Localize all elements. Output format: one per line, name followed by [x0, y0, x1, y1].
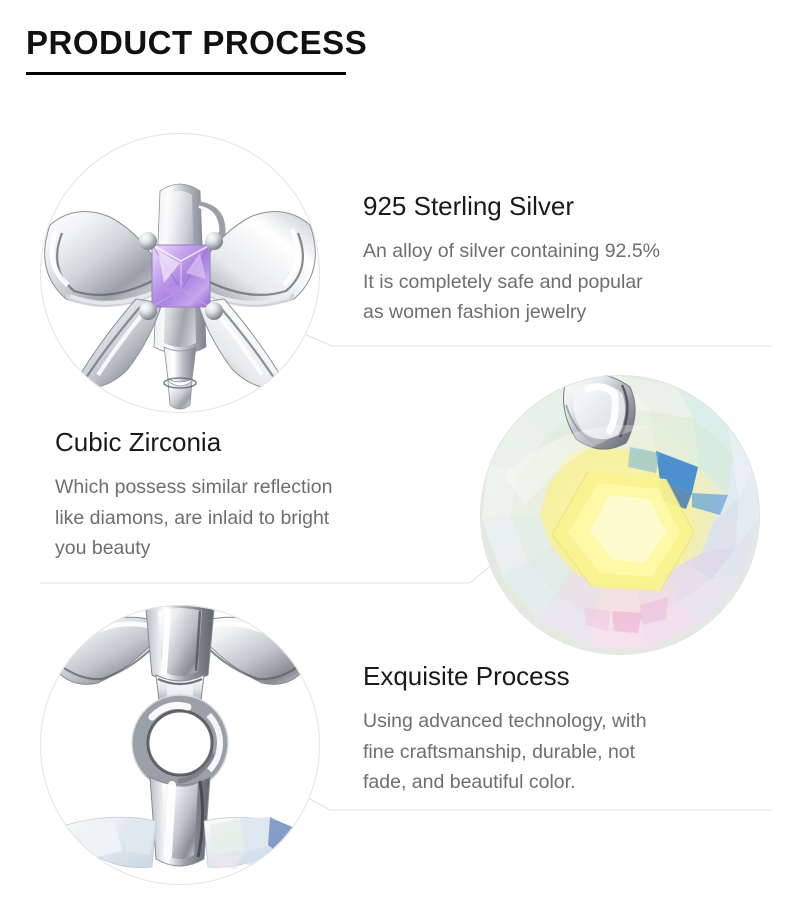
clasp-detail-photo: [40, 605, 320, 885]
title-underline: [26, 72, 346, 75]
product-process-infographic: PRODUCT PROCESS: [0, 0, 800, 901]
section-zirconia: Cubic Zirconia Which possess similar ref…: [55, 428, 475, 564]
page-title: PRODUCT PROCESS: [26, 24, 367, 62]
iridescent-crystal-photo: [480, 375, 760, 655]
section-body-silver: An alloy of silver containing 92.5% It i…: [363, 236, 783, 328]
silver-bow-charm-photo: [40, 133, 320, 413]
section-heading-process: Exquisite Process: [363, 662, 783, 692]
section-process: Exquisite Process Using advanced technol…: [363, 662, 783, 798]
section-heading-zirconia: Cubic Zirconia: [55, 428, 475, 458]
section-body-process: Using advanced technology, with fine cra…: [363, 706, 783, 798]
section-body-zirconia: Which possess similar reflection like di…: [55, 472, 475, 564]
section-heading-silver: 925 Sterling Silver: [363, 192, 783, 222]
section-silver: 925 Sterling Silver An alloy of silver c…: [363, 192, 783, 328]
